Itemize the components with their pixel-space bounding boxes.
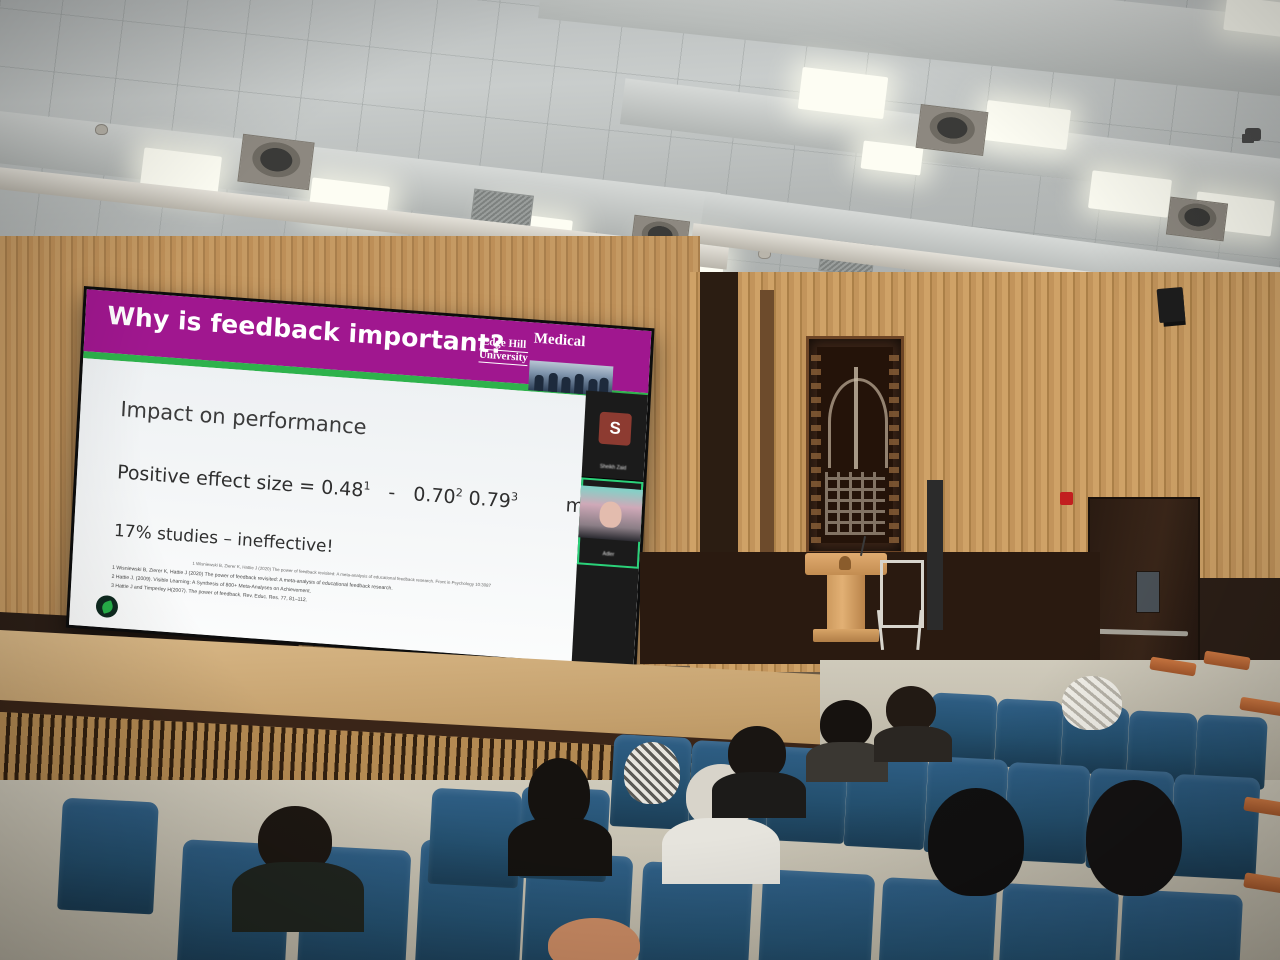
auditorium-seat [994, 698, 1063, 769]
edge-hill-university-logo: Edge Hill University [479, 336, 529, 366]
edge-hill-leaf-mark-icon [95, 595, 118, 619]
speaker-lectern-base [813, 629, 879, 642]
medical-school-logo: Medical [528, 328, 615, 396]
participant-name: Sheikh Zaid [582, 462, 644, 473]
audience-member-patterned-scarf [624, 742, 680, 804]
audience-member-shoulders [508, 818, 612, 876]
speaker-lectern-column [827, 575, 865, 633]
video-call-panel: S Sheikh Zaid Adler [572, 390, 648, 666]
effect-size-dash: - [388, 481, 396, 503]
participant-tile-active[interactable]: Adler [577, 477, 643, 568]
audience-member-shoulders [662, 818, 780, 884]
ceiling-speaker [916, 104, 989, 156]
effect-size-value-3: 0.79 [468, 487, 511, 512]
auditorium-seat [57, 798, 159, 915]
audience-member-shoulders [712, 772, 806, 818]
smoke-detector-icon [95, 124, 108, 135]
projection-screen: Why is feedback important? Edge Hill Uni… [66, 286, 655, 670]
ceiling-speaker [1166, 197, 1228, 242]
audience-member-hijab [1086, 780, 1182, 896]
stage-side-board [927, 480, 943, 630]
fire-alarm-icon [1060, 492, 1073, 505]
audience-member-hijab [928, 788, 1024, 896]
audience-member-white-keffiyeh [1062, 676, 1122, 730]
slide-content: Impact on performance Positive effect si… [69, 358, 648, 667]
audience-member-shoulders [232, 862, 364, 932]
auditorium-seat [1117, 889, 1243, 960]
security-camera-icon [1245, 128, 1261, 141]
carved-calligraphy-panel [806, 336, 904, 554]
kufic-calligraphy-motif [825, 472, 886, 535]
effect-size-prefix: Positive effect size = 0.48 [117, 461, 364, 501]
footnote-ref-3: 3 [511, 490, 519, 504]
slide-heading: Impact on performance [120, 397, 367, 439]
carved-spine-motif [854, 367, 858, 469]
display-easel [880, 560, 924, 628]
participant-tile[interactable]: S Sheikh Zaid [582, 390, 648, 481]
participant-name: Adler [577, 549, 639, 560]
participant-webcam-feed [578, 485, 643, 542]
carved-border-right [889, 347, 899, 542]
footnote-ref-1: 1 [363, 479, 371, 493]
door-window [1136, 571, 1160, 613]
auditorium-seat [1169, 774, 1260, 880]
presentation-slide: Why is feedback important? Edge Hill Uni… [69, 289, 651, 666]
audience-member-shoulders [874, 726, 952, 762]
audience-member [820, 700, 872, 748]
auditorium-seat [997, 883, 1119, 960]
wall-speaker [1157, 287, 1186, 323]
participant-avatar: S [598, 412, 632, 446]
footnote-ref-2: 2 [455, 486, 463, 500]
auditorium-photo: Why is feedback important? Edge Hill Uni… [0, 0, 1280, 960]
slide-effect-size-line: Positive effect size = 0.481 - 0.702 0.7… [117, 461, 652, 525]
medical-school-label: Medical [533, 330, 585, 351]
lectern-emblem-icon [839, 556, 851, 570]
effect-size-value-2: 0.70 [413, 483, 456, 508]
slide-statistic: 17% studies – ineffective! [113, 521, 333, 557]
carved-panel-artwork [817, 347, 893, 543]
ceiling-speaker [237, 134, 314, 190]
carved-border-left [811, 347, 821, 542]
